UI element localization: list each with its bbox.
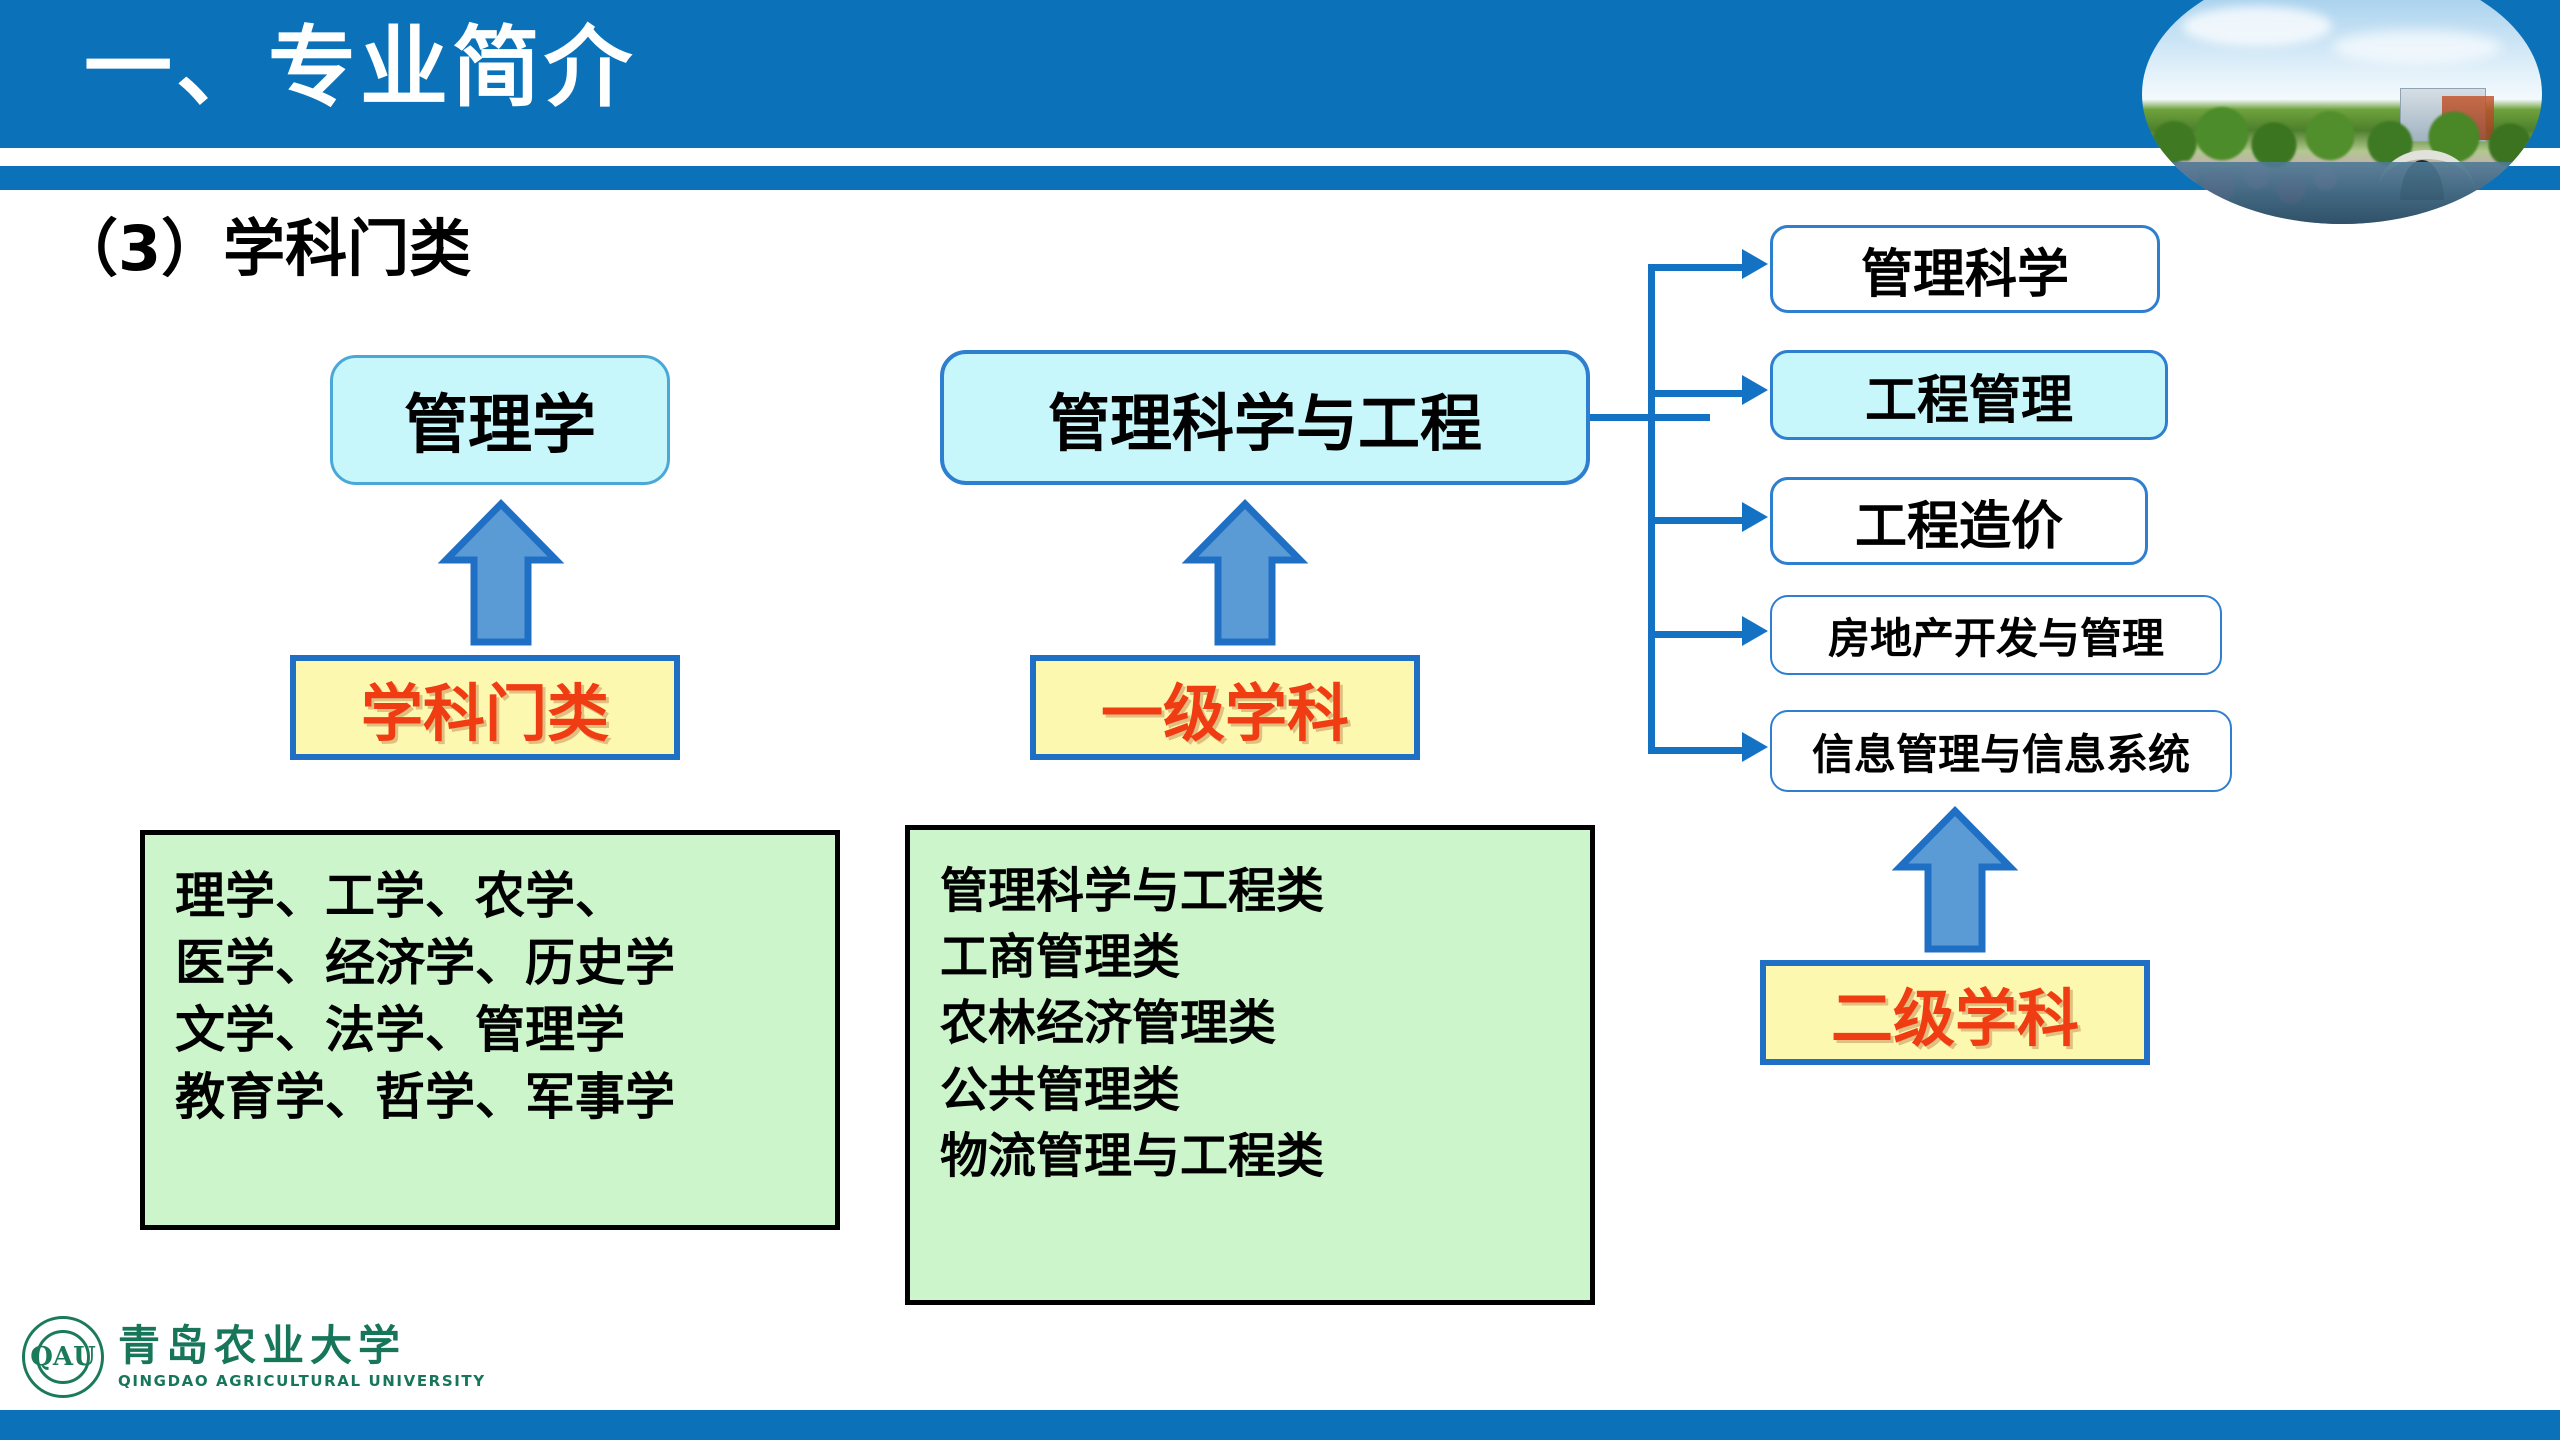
list-item: 文学、法学、管理学 <box>175 997 805 1064</box>
connector-trunk-vertical <box>1648 264 1655 754</box>
second-level-box-4[interactable]: 房地产开发与管理 <box>1770 595 2222 675</box>
section-heading: （3）学科门类 <box>56 198 471 288</box>
seal-monogram: QAU <box>36 1330 90 1384</box>
label-second-level-discipline[interactable]: 二级学科 <box>1760 960 2150 1065</box>
list-item: 理学、工学、农学、 <box>175 863 805 930</box>
list-item: 工商管理类 <box>940 924 1560 990</box>
list-item: 教育学、哲学、军事学 <box>175 1064 805 1131</box>
connector-branch-1 <box>1648 264 1744 271</box>
up-arrow-icon-right <box>1892 805 2018 955</box>
second-level-box-3[interactable]: 工程造价 <box>1770 477 2148 565</box>
arrowhead-icon-3 <box>1742 502 1768 532</box>
connector-branch-4 <box>1648 631 1744 638</box>
logo-name-en: QINGDAO AGRICULTURAL UNIVERSITY <box>118 1372 486 1390</box>
logo-text-block: 青岛农业大学 QINGDAO AGRICULTURAL UNIVERSITY <box>118 1324 486 1390</box>
slide-canvas: 一、专业简介 （3）学科门类 管理学 学科门类 理学、工学、农学、 医学、经济学… <box>0 0 2560 1440</box>
cloud-shape <box>2332 30 2502 64</box>
arrowhead-icon-1 <box>1742 249 1768 279</box>
connector-branch-2 <box>1648 390 1744 397</box>
second-level-box-1[interactable]: 管理科学 <box>1770 225 2160 313</box>
arrowhead-icon-2 <box>1742 375 1768 405</box>
first-level-discipline-box[interactable]: 管理科学与工程 <box>940 350 1590 485</box>
list-item: 管理科学与工程类 <box>940 858 1560 924</box>
footer-bar <box>0 1410 2560 1440</box>
second-level-box-5[interactable]: 信息管理与信息系统 <box>1770 710 2232 792</box>
up-arrow-icon-middle <box>1182 498 1308 648</box>
campus-oval-photo <box>2142 0 2542 224</box>
page-title: 一、专业简介 <box>84 22 636 114</box>
up-arrow-icon-left <box>438 498 564 648</box>
first-level-discipline-list: 管理科学与工程类 工商管理类 农林经济管理类 公共管理类 物流管理与工程类 <box>905 825 1595 1305</box>
connector-branch-3 <box>1648 517 1744 524</box>
label-discipline-category[interactable]: 学科门类 <box>290 655 680 760</box>
label-first-level-discipline[interactable]: 一级学科 <box>1030 655 1420 760</box>
second-level-box-2-highlighted[interactable]: 工程管理 <box>1770 350 2168 440</box>
university-seal-icon: QAU <box>22 1316 104 1398</box>
arrowhead-icon-4 <box>1742 616 1768 646</box>
arrowhead-icon-5 <box>1742 732 1768 762</box>
water-reflection <box>2142 162 2542 224</box>
list-item: 农林经济管理类 <box>940 990 1560 1056</box>
discipline-category-box[interactable]: 管理学 <box>330 355 670 485</box>
list-item: 公共管理类 <box>940 1057 1560 1123</box>
connector-branch-5 <box>1648 747 1744 754</box>
cloud-shape <box>2182 6 2332 46</box>
logo-name-cn: 青岛农业大学 <box>118 1324 486 1368</box>
list-item: 医学、经济学、历史学 <box>175 930 805 997</box>
list-item: 物流管理与工程类 <box>940 1123 1560 1189</box>
university-logo: QAU 青岛农业大学 QINGDAO AGRICULTURAL UNIVERSI… <box>22 1316 486 1398</box>
discipline-category-list: 理学、工学、农学、 医学、经济学、历史学 文学、法学、管理学 教育学、哲学、军事… <box>140 830 840 1230</box>
